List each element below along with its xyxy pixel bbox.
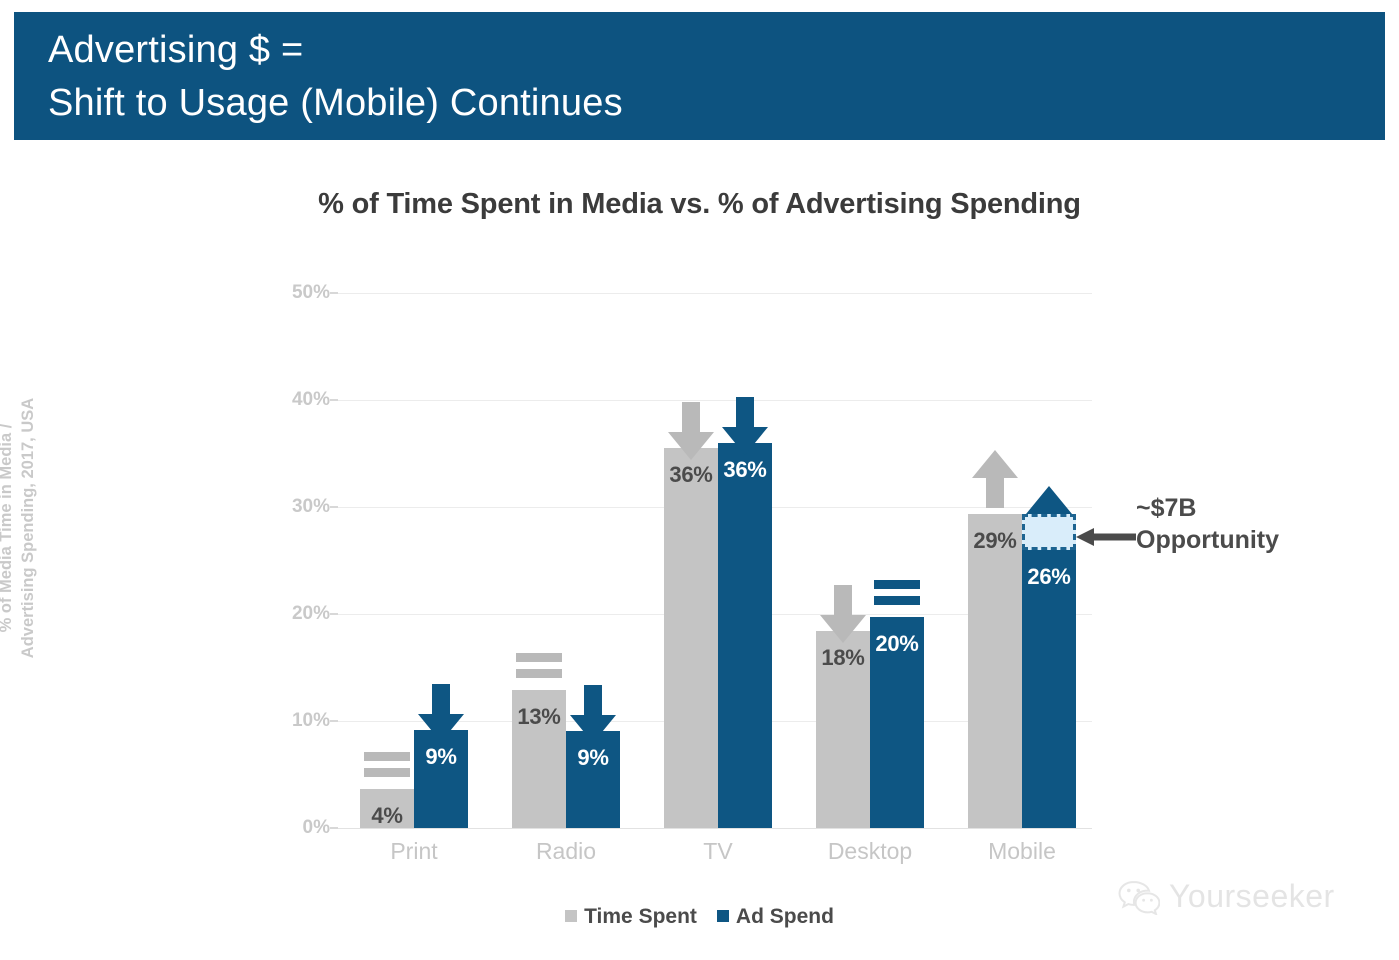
y-tick-mark-40: [330, 399, 338, 401]
bar-print-time-spent[interactable]: 4%: [360, 789, 414, 828]
legend-item-ad-spend[interactable]: Ad Spend: [717, 905, 834, 929]
y-tick-mark-50: [330, 292, 338, 294]
x-axis-label-mobile: Mobile: [932, 838, 1112, 865]
legend-label-time-spent: Time Spent: [584, 905, 697, 928]
y-axis-ticks: 50% 40% 30% 20% 10% 0%: [266, 0, 330, 960]
gridline-0-baseline: [337, 828, 1092, 829]
bar-desktop-ad-spend[interactable]: 20%: [870, 617, 924, 828]
trend-down-arrow-icon-tv-time-spent: [668, 402, 714, 460]
trend-up-arrow-icon-mobile-time-spent: [972, 450, 1018, 508]
slide-canvas: Advertising $ = Shift to Usage (Mobile) …: [0, 0, 1399, 960]
y-tick-mark-30: [330, 506, 338, 508]
bar-label-tv-time-spent: 36%: [664, 462, 718, 488]
bar-label-print-time-spent: 4%: [360, 803, 414, 829]
bar-tv-ad-spend[interactable]: 36%: [718, 443, 772, 828]
y-axis-title-line-1: % of Media Time in Media /: [0, 318, 17, 738]
legend-label-ad-spend: Ad Spend: [736, 905, 834, 928]
bar-label-mobile-time-spent: 29%: [968, 528, 1022, 554]
bar-label-desktop-ad-spend: 20%: [870, 631, 924, 657]
bar-label-desktop-time-spent: 18%: [816, 645, 870, 671]
legend-item-time-spent[interactable]: Time Spent: [565, 905, 697, 929]
legend-swatch-ad-spend: [717, 910, 729, 922]
bar-tv-time-spent[interactable]: 36%: [664, 448, 718, 828]
gridline-50: [337, 293, 1092, 294]
bar-label-radio-ad-spend: 9%: [566, 745, 620, 771]
y-tick-label-30: 30%: [266, 496, 330, 518]
bar-radio-ad-spend[interactable]: 9%: [566, 731, 620, 828]
y-tick-mark-10: [330, 720, 338, 722]
bar-mobile-time-spent[interactable]: 29%: [968, 514, 1022, 828]
bar-desktop-time-spent[interactable]: 18%: [816, 631, 870, 828]
bar-mobile-ad-spend[interactable]: 26%: [1022, 550, 1076, 828]
trend-equal-icon-radio-time-spent: [516, 652, 562, 680]
bar-label-tv-ad-spend: 36%: [718, 457, 772, 483]
legend-swatch-time-spent: [565, 910, 577, 922]
trend-down-arrow-icon-tv-ad-spend: [722, 397, 768, 455]
gridline-40: [337, 400, 1092, 401]
y-tick-label-10: 10%: [266, 710, 330, 732]
trend-down-arrow-icon-desktop-time-spent: [820, 585, 866, 643]
bar-label-radio-time-spent: 13%: [512, 704, 566, 730]
y-axis-title-line-2: Advertising Spending, 2017, USA: [17, 318, 39, 738]
bar-label-print-ad-spend: 9%: [414, 744, 468, 770]
trend-equal-icon-print-time-spent: [364, 751, 410, 779]
y-tick-label-20: 20%: [266, 603, 330, 625]
y-tick-label-0: 0%: [266, 817, 330, 839]
trend-down-arrow-icon-print-ad-spend: [418, 684, 464, 742]
y-axis-title: % of Media Time in Media / Advertising S…: [0, 318, 55, 738]
bar-print-ad-spend[interactable]: 9%: [414, 730, 468, 828]
bar-label-mobile-ad-spend: 26%: [1022, 564, 1076, 590]
y-tick-label-50: 50%: [266, 282, 330, 304]
opportunity-annotation: ~$7B Opportunity: [1136, 492, 1386, 556]
y-tick-mark-20: [330, 613, 338, 615]
watermark: Yourseeker: [1118, 878, 1335, 915]
left-arrow-icon: [1076, 528, 1136, 546]
trend-down-arrow-icon-radio-ad-spend: [570, 685, 616, 743]
y-tick-label-40: 40%: [266, 389, 330, 411]
trend-equal-icon-desktop-ad-spend: [874, 579, 920, 607]
annotation-label: Opportunity: [1136, 524, 1386, 556]
wechat-icon: [1118, 879, 1160, 915]
y-tick-mark-0: [330, 827, 338, 829]
bar-chart: % of Media Time in Media / Advertising S…: [0, 0, 1399, 960]
annotation-value: ~$7B: [1136, 492, 1386, 524]
bar-radio-time-spent[interactable]: 13%: [512, 690, 566, 828]
watermark-label: Yourseeker: [1169, 878, 1335, 915]
opportunity-overlay-box[interactable]: [1022, 514, 1076, 549]
